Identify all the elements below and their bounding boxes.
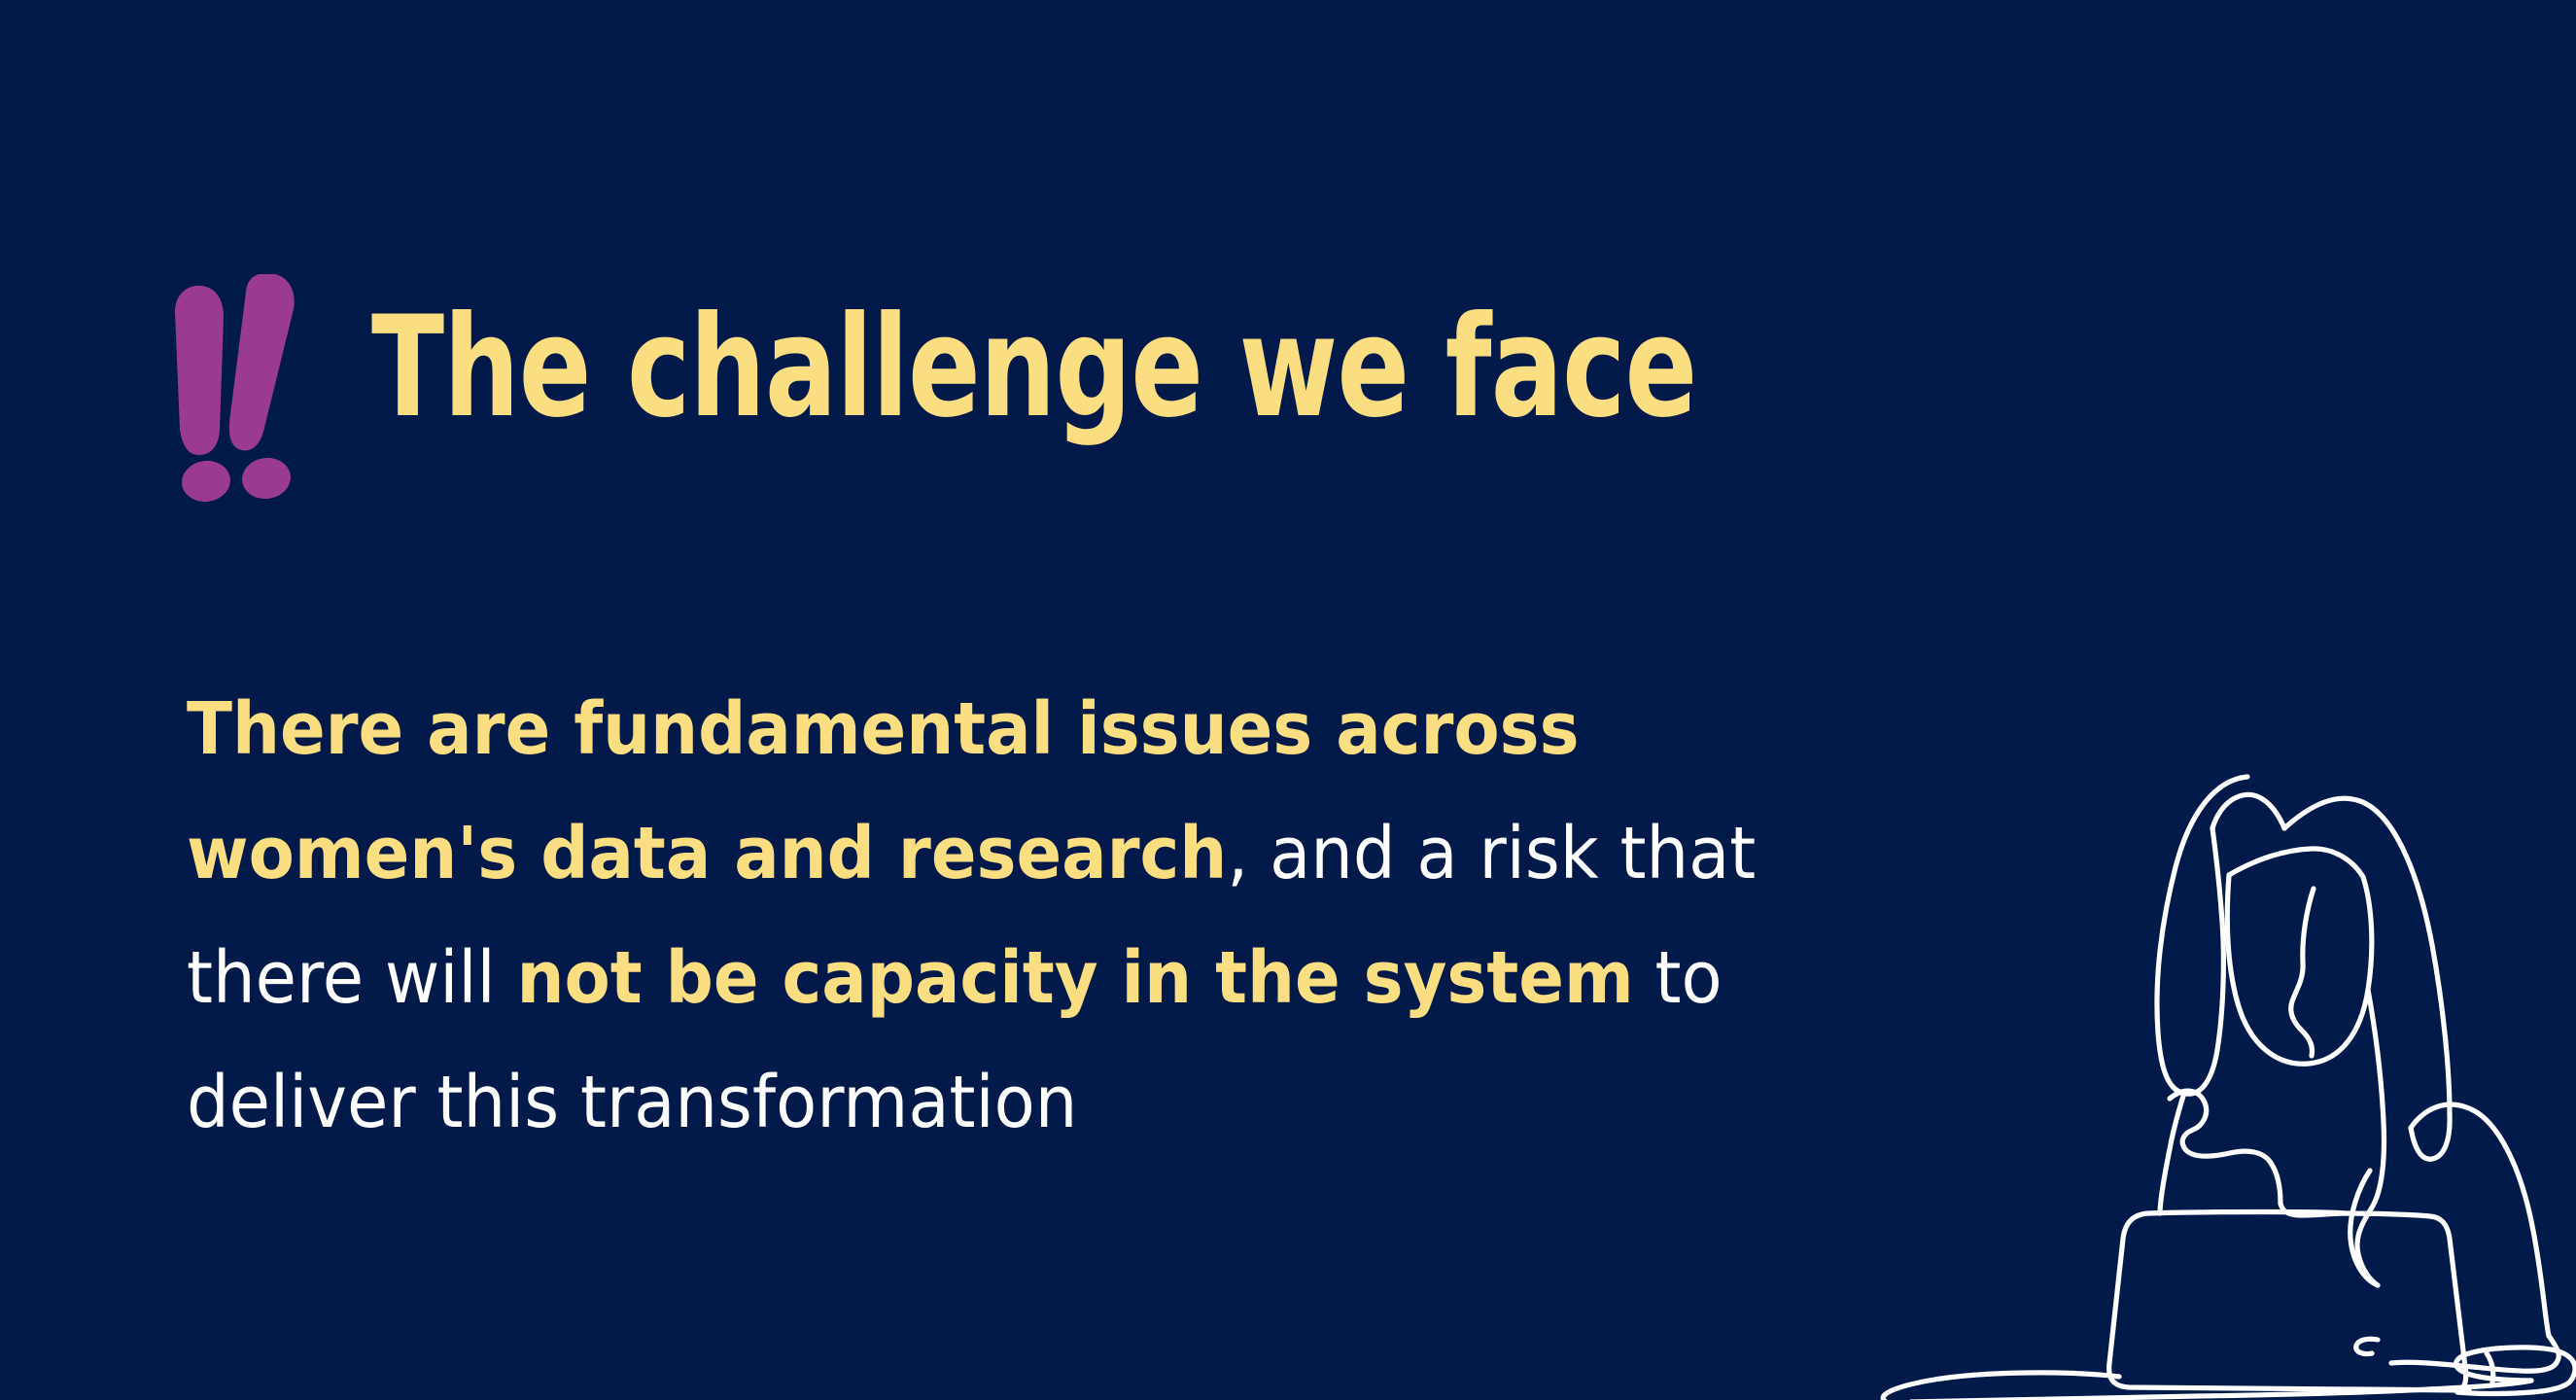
- face-profile-line: [2291, 889, 2314, 1056]
- hair-crown-right: [2284, 798, 2450, 1114]
- slide-canvas: The challenge we face There are fundamen…: [0, 0, 2576, 1400]
- heading-row: The challenge we face: [146, 270, 1912, 503]
- left-hand: [2170, 1091, 2280, 1204]
- woman-at-laptop-illustration: [1828, 721, 2576, 1400]
- hair-part: [2229, 849, 2363, 877]
- shoulder-back-right: [2411, 1104, 2549, 1336]
- left-arm-shoulder: [2160, 1093, 2184, 1213]
- body-paragraph: There are fundamental issues across wome…: [187, 667, 1778, 1165]
- body-emphasis-2: not be capacity in the system: [516, 936, 1633, 1020]
- head-outline: [2227, 875, 2372, 1064]
- hand-loop-detail: [2356, 1339, 2378, 1353]
- page-title: The challenge we face: [371, 270, 1696, 437]
- double-exclamation-icon: [146, 274, 321, 503]
- hair-strand-center-right: [2357, 990, 2385, 1285]
- hair-left-outer: [2157, 777, 2247, 1094]
- hair-left-inner: [2212, 794, 2284, 828]
